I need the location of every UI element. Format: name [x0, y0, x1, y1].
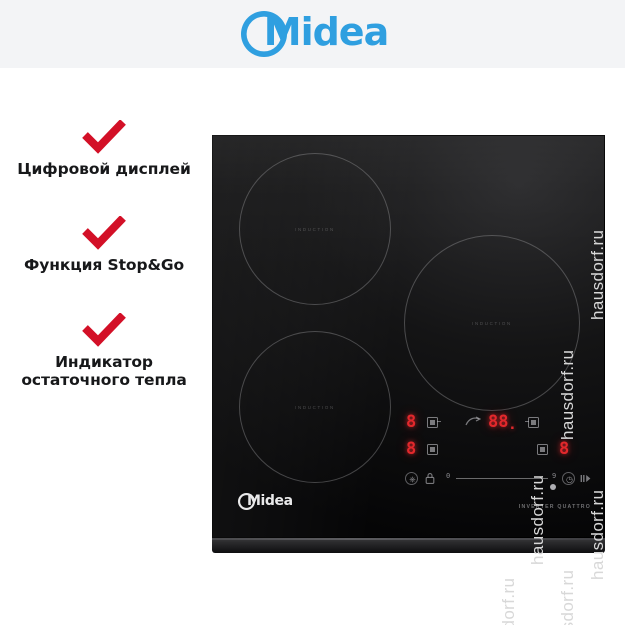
- slider-max-label: 9: [552, 472, 556, 480]
- check-icon: [81, 120, 127, 154]
- power-slider-knob[interactable]: [550, 484, 556, 490]
- control-panel[interactable]: 8 88 . 8 8: [402, 412, 592, 502]
- slider-min-label: 0: [446, 472, 450, 480]
- feature-item-stop-and-go: Функция Stop&Go: [0, 216, 208, 274]
- feature-label: Индикатор остаточного тепла: [0, 353, 208, 390]
- cooking-zone-rear-left[interactable]: INDUCTION: [239, 331, 391, 483]
- pan-zone-icon-rear-left: [427, 417, 438, 428]
- timer-icon[interactable]: ◷: [562, 472, 575, 485]
- feature-list: Цифровой дисплей Функция Stop&Go Индикат…: [0, 120, 208, 409]
- lock-icon[interactable]: [424, 472, 436, 485]
- model-designation: INVERTER QUATTRO: [519, 504, 591, 510]
- pan-handle-icon: [528, 417, 539, 428]
- header-band: Midea: [0, 0, 625, 68]
- zone-level-display-front-left: 8: [406, 441, 416, 458]
- check-icon: [81, 313, 127, 347]
- cooking-zone-right[interactable]: INDUCTION: [404, 235, 580, 411]
- feature-label: Функция Stop&Go: [0, 256, 208, 274]
- feature-item-digital-display: Цифровой дисплей: [0, 120, 208, 178]
- cooking-zone-front-left[interactable]: INDUCTION: [239, 153, 391, 305]
- zone-label: INDUCTION: [295, 227, 335, 232]
- cooktop-bevel-highlight: [212, 538, 605, 540]
- midea-logo: Midea: [237, 8, 388, 60]
- power-icon[interactable]: ⎈: [405, 472, 418, 485]
- display-row-mid: 8 8: [402, 439, 592, 463]
- zone-label: INDUCTION: [472, 321, 512, 326]
- stop-and-go-icon: [465, 416, 481, 428]
- cooktop-brand-wordmark: Midea: [247, 494, 293, 508]
- zone-level-display-rear-left: 8: [406, 414, 416, 431]
- timer-display-dot: .: [510, 414, 515, 434]
- pan-zone-icon-right: [537, 444, 548, 455]
- power-slider-track[interactable]: [456, 478, 548, 479]
- cooktop-brand-logo: Midea: [237, 490, 293, 512]
- zone-level-display-right: 8: [559, 441, 569, 458]
- pan-zone-icon-front-left: [427, 444, 438, 455]
- cooktop-front-bevel: [212, 538, 605, 553]
- feature-label: Цифровой дисплей: [0, 160, 208, 178]
- midea-swirl-icon: [237, 8, 291, 60]
- zone-label: INDUCTION: [295, 405, 335, 410]
- display-row-top: 8 88 .: [402, 412, 592, 436]
- check-icon: [81, 216, 127, 250]
- timer-display: 88: [488, 414, 508, 431]
- feature-item-residual-heat: Индикатор остаточного тепла: [0, 313, 208, 390]
- induction-cooktop: INDUCTION INDUCTION INDUCTION 8 88: [212, 135, 605, 553]
- touch-controls-row[interactable]: ⎈ 0 9 ◷: [402, 469, 592, 489]
- cooktop-glass-surface: INDUCTION INDUCTION INDUCTION 8 88: [212, 135, 605, 538]
- page-body: Цифровой дисплей Функция Stop&Go Индикат…: [0, 68, 625, 625]
- pause-play-icon[interactable]: [580, 473, 591, 484]
